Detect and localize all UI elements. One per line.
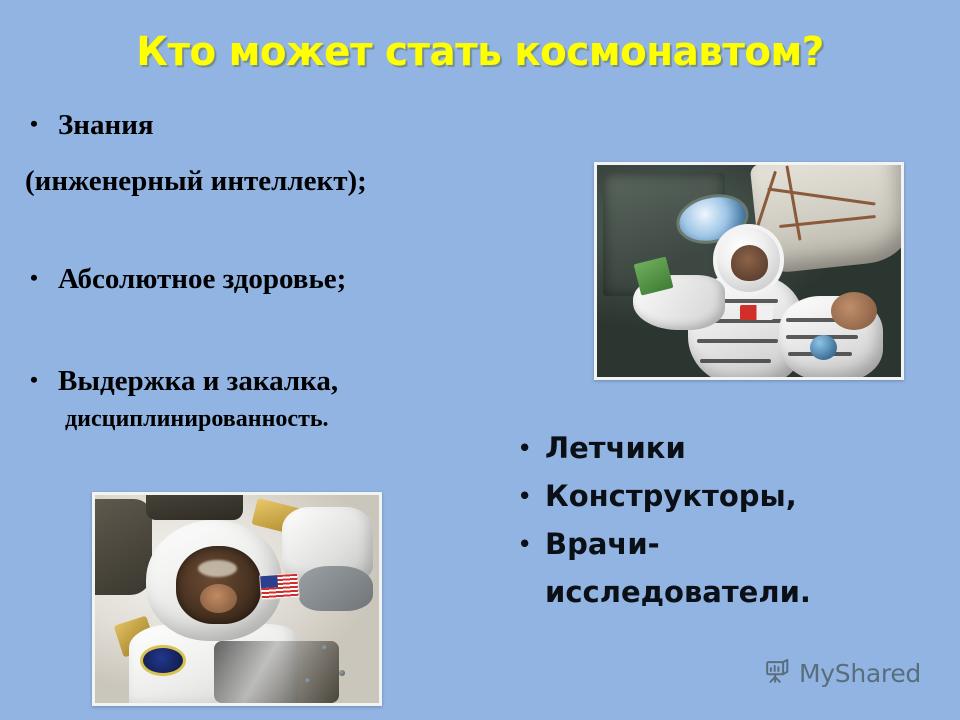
astronaut-face [200,584,237,613]
text-researchers: исследователи. [505,568,945,616]
bullet-item-endurance: Выдержка и закалка, [18,360,488,402]
astronaut-glove [299,566,373,612]
cosmonaut-face [731,245,768,281]
hardware-bolt [339,670,345,676]
suit-stripe [697,339,778,343]
soyuz-control-knob [810,335,837,360]
slide-title: Кто может стать космонавтом? [14,30,945,74]
bullet-item-absolute-health: Абсолютное здоровье; [18,258,488,300]
us-flag-patch [259,573,300,601]
bullet-item-doctors: Врачи- [505,520,945,568]
text-discipline: дисциплинированность. [18,402,488,436]
visor-reflection [198,560,237,577]
suit-flag-patch [740,305,773,320]
presentation-board-icon [762,656,792,691]
bullet-item-knowledge: Знания [18,104,488,146]
eva-scene [95,495,379,703]
helmet-visor [176,546,261,623]
photo-astronaut-in-spacesuit [92,492,382,706]
watermark-label: MyShared [799,659,921,688]
text-engineering-intellect: (инженерный интеллект); [18,160,488,202]
bullet-item-pilots: Летчики [505,424,945,472]
soyuz-interior-scene [597,165,901,377]
presentation-slide: Кто может стать космонавтом? Знания (инж… [0,0,960,720]
hardware-bolt [322,645,328,651]
bullet-item-designers: Конструкторы, [505,472,945,520]
myshared-watermark: MyShared [762,656,921,691]
eva-tools-and-hardware [214,641,339,703]
station-structure-top [146,492,243,520]
photo-cosmonauts-in-soyuz-capsule [594,162,904,380]
nasa-insignia-patch [140,645,186,676]
left-text-column: Знания (инженерный интеллект); Абсолютно… [18,104,488,436]
right-text-column: Летчики Конструкторы, Врачи- исследовате… [505,424,945,616]
second-cosmonaut-face [831,292,877,330]
soyuz-helmet [713,224,785,296]
station-structure-left [92,499,152,595]
suit-stripe [700,359,772,363]
